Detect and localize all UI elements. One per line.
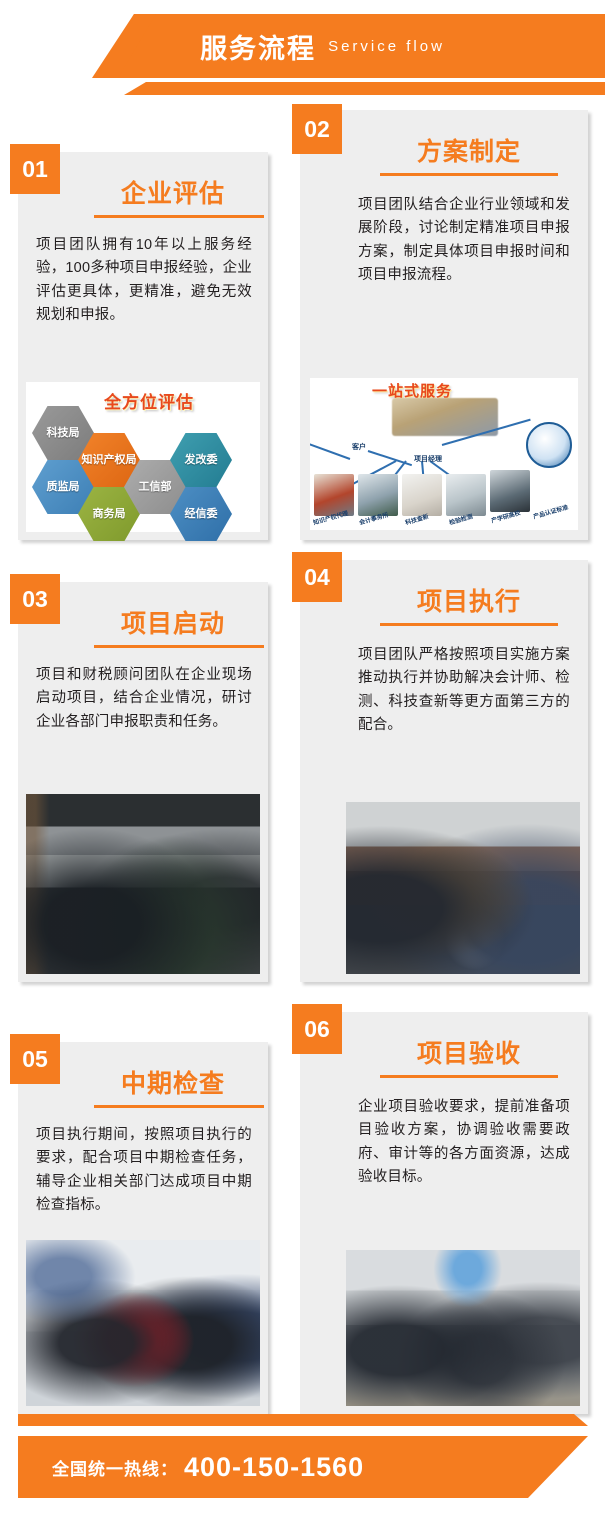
step-card-04[interactable]: 项目执行 项目团队严格按照项目实施方案推动执行并协助解决会计师、检测、科技查新等… [300,560,588,982]
step-card-05[interactable]: 中期检查 项目执行期间，按照项目执行的要求，配合项目中期检查任务，辅导企业相关部… [18,1042,268,1414]
hotline-label: 全国统一热线： [52,1455,178,1480]
footer-accent-stripe [18,1414,588,1426]
step-badge-05: 05 [10,1034,60,1084]
one-stop-arrow-3 [310,434,350,460]
page-footer: 全国统一热线： 400-150-1560 [0,1414,605,1520]
card-title-05: 中期检查 [94,1064,252,1100]
step-badge-02: 02 [292,104,342,154]
card-body-04: 项目团队严格按照项目实施方案推动执行并协助解决会计师、检测、科技查新等更方面第三… [300,626,588,738]
card-title-02: 方案制定 [366,132,572,168]
step-card-03[interactable]: 项目启动 项目和财税顾问团队在企业现场启动项目，结合企业情况，研讨企业各部门申报… [18,582,268,982]
card-body-03: 项目和财税顾问团队在企业现场启动项目，结合企业情况，研讨企业各部门申报职责和任务… [18,648,268,734]
card-header-02: 方案制定 [300,110,588,176]
card-header-04: 项目执行 [300,560,588,626]
one-stop-label-customer: 客户 [352,442,366,452]
photo-conference-room-meeting [26,794,260,974]
hex-diagram-title: 全方位评估 [104,388,194,413]
step-card-01[interactable]: 企业评估 项目团队拥有10年以上服务经验，100多种项目申报经验，企业评估更具体… [18,152,268,540]
photo-acceptance-meeting [346,1250,580,1406]
step-badge-04: 04 [292,552,342,602]
step-badge-03: 03 [10,574,60,624]
one-stop-node-search [402,474,442,516]
card-title-01: 企业评估 [94,174,252,210]
one-stop-node-accounting [358,474,398,516]
card-title-04: 项目执行 [366,582,572,618]
card-body-05: 项目执行期间，按照项目执行的要求，配合项目中期检查任务，辅导企业相关部门达成项目… [18,1108,268,1218]
one-stop-label-manager: 项目经理 [414,454,442,464]
photo-working-session-laptops [346,802,580,974]
hex-diagram: 全方位评估 科技局 质监局 知识产权局 商务局 工信部 发改委 经信委 [26,382,260,532]
card-header-06: 项目验收 [300,1012,588,1078]
card-body-02: 项目团队结合企业行业领域和发展阶段，讨论制定精准项目申报方案，制定具体项目申报时… [300,176,588,288]
footer-hotline-group: 全国统一热线： 400-150-1560 [52,1436,364,1498]
card-body-06: 企业项目验收要求，提前准备项目验收方案，协调验收需要政府、审计等的各方面资源，达… [300,1078,588,1190]
step-card-02[interactable]: 方案制定 项目团队结合企业行业领域和发展阶段，讨论制定精准项目申报方案，制定具体… [300,110,588,540]
step-badge-06: 06 [292,1004,342,1054]
one-stop-service-diagram: 一站式服务 客户 项目经理 知识产权代理 会计事务所 科技查新 检验检测 产学研… [310,378,578,530]
hotline-number[interactable]: 400-150-1560 [184,1452,364,1483]
header-accent-stripe [0,82,605,95]
page-header: 服务流程 Service flow [0,0,605,100]
card-title-03: 项目启动 [94,604,252,640]
one-stop-certification-seal [526,422,572,468]
page-title: 服务流程 [200,27,316,66]
one-stop-node-testing [446,474,486,516]
card-body-01: 项目团队拥有10年以上服务经验，100多种项目申报经验，企业评估更具体，更精准，… [18,218,268,328]
header-title-group: 服务流程 Service flow [0,14,605,78]
one-stop-hero-photo [392,398,498,436]
photo-site-visit-showroom [26,1240,260,1406]
step-badge-01: 01 [10,144,60,194]
one-stop-caption-certification: 产品认证标准 [532,502,569,521]
page-subtitle: Service flow [328,38,445,55]
step-card-06[interactable]: 项目验收 企业项目验收要求，提前准备项目验收方案，协调验收需要政府、审计等的各方… [300,1012,588,1414]
one-stop-node-university [490,470,530,512]
one-stop-node-ip [314,474,354,516]
card-title-06: 项目验收 [366,1034,572,1070]
